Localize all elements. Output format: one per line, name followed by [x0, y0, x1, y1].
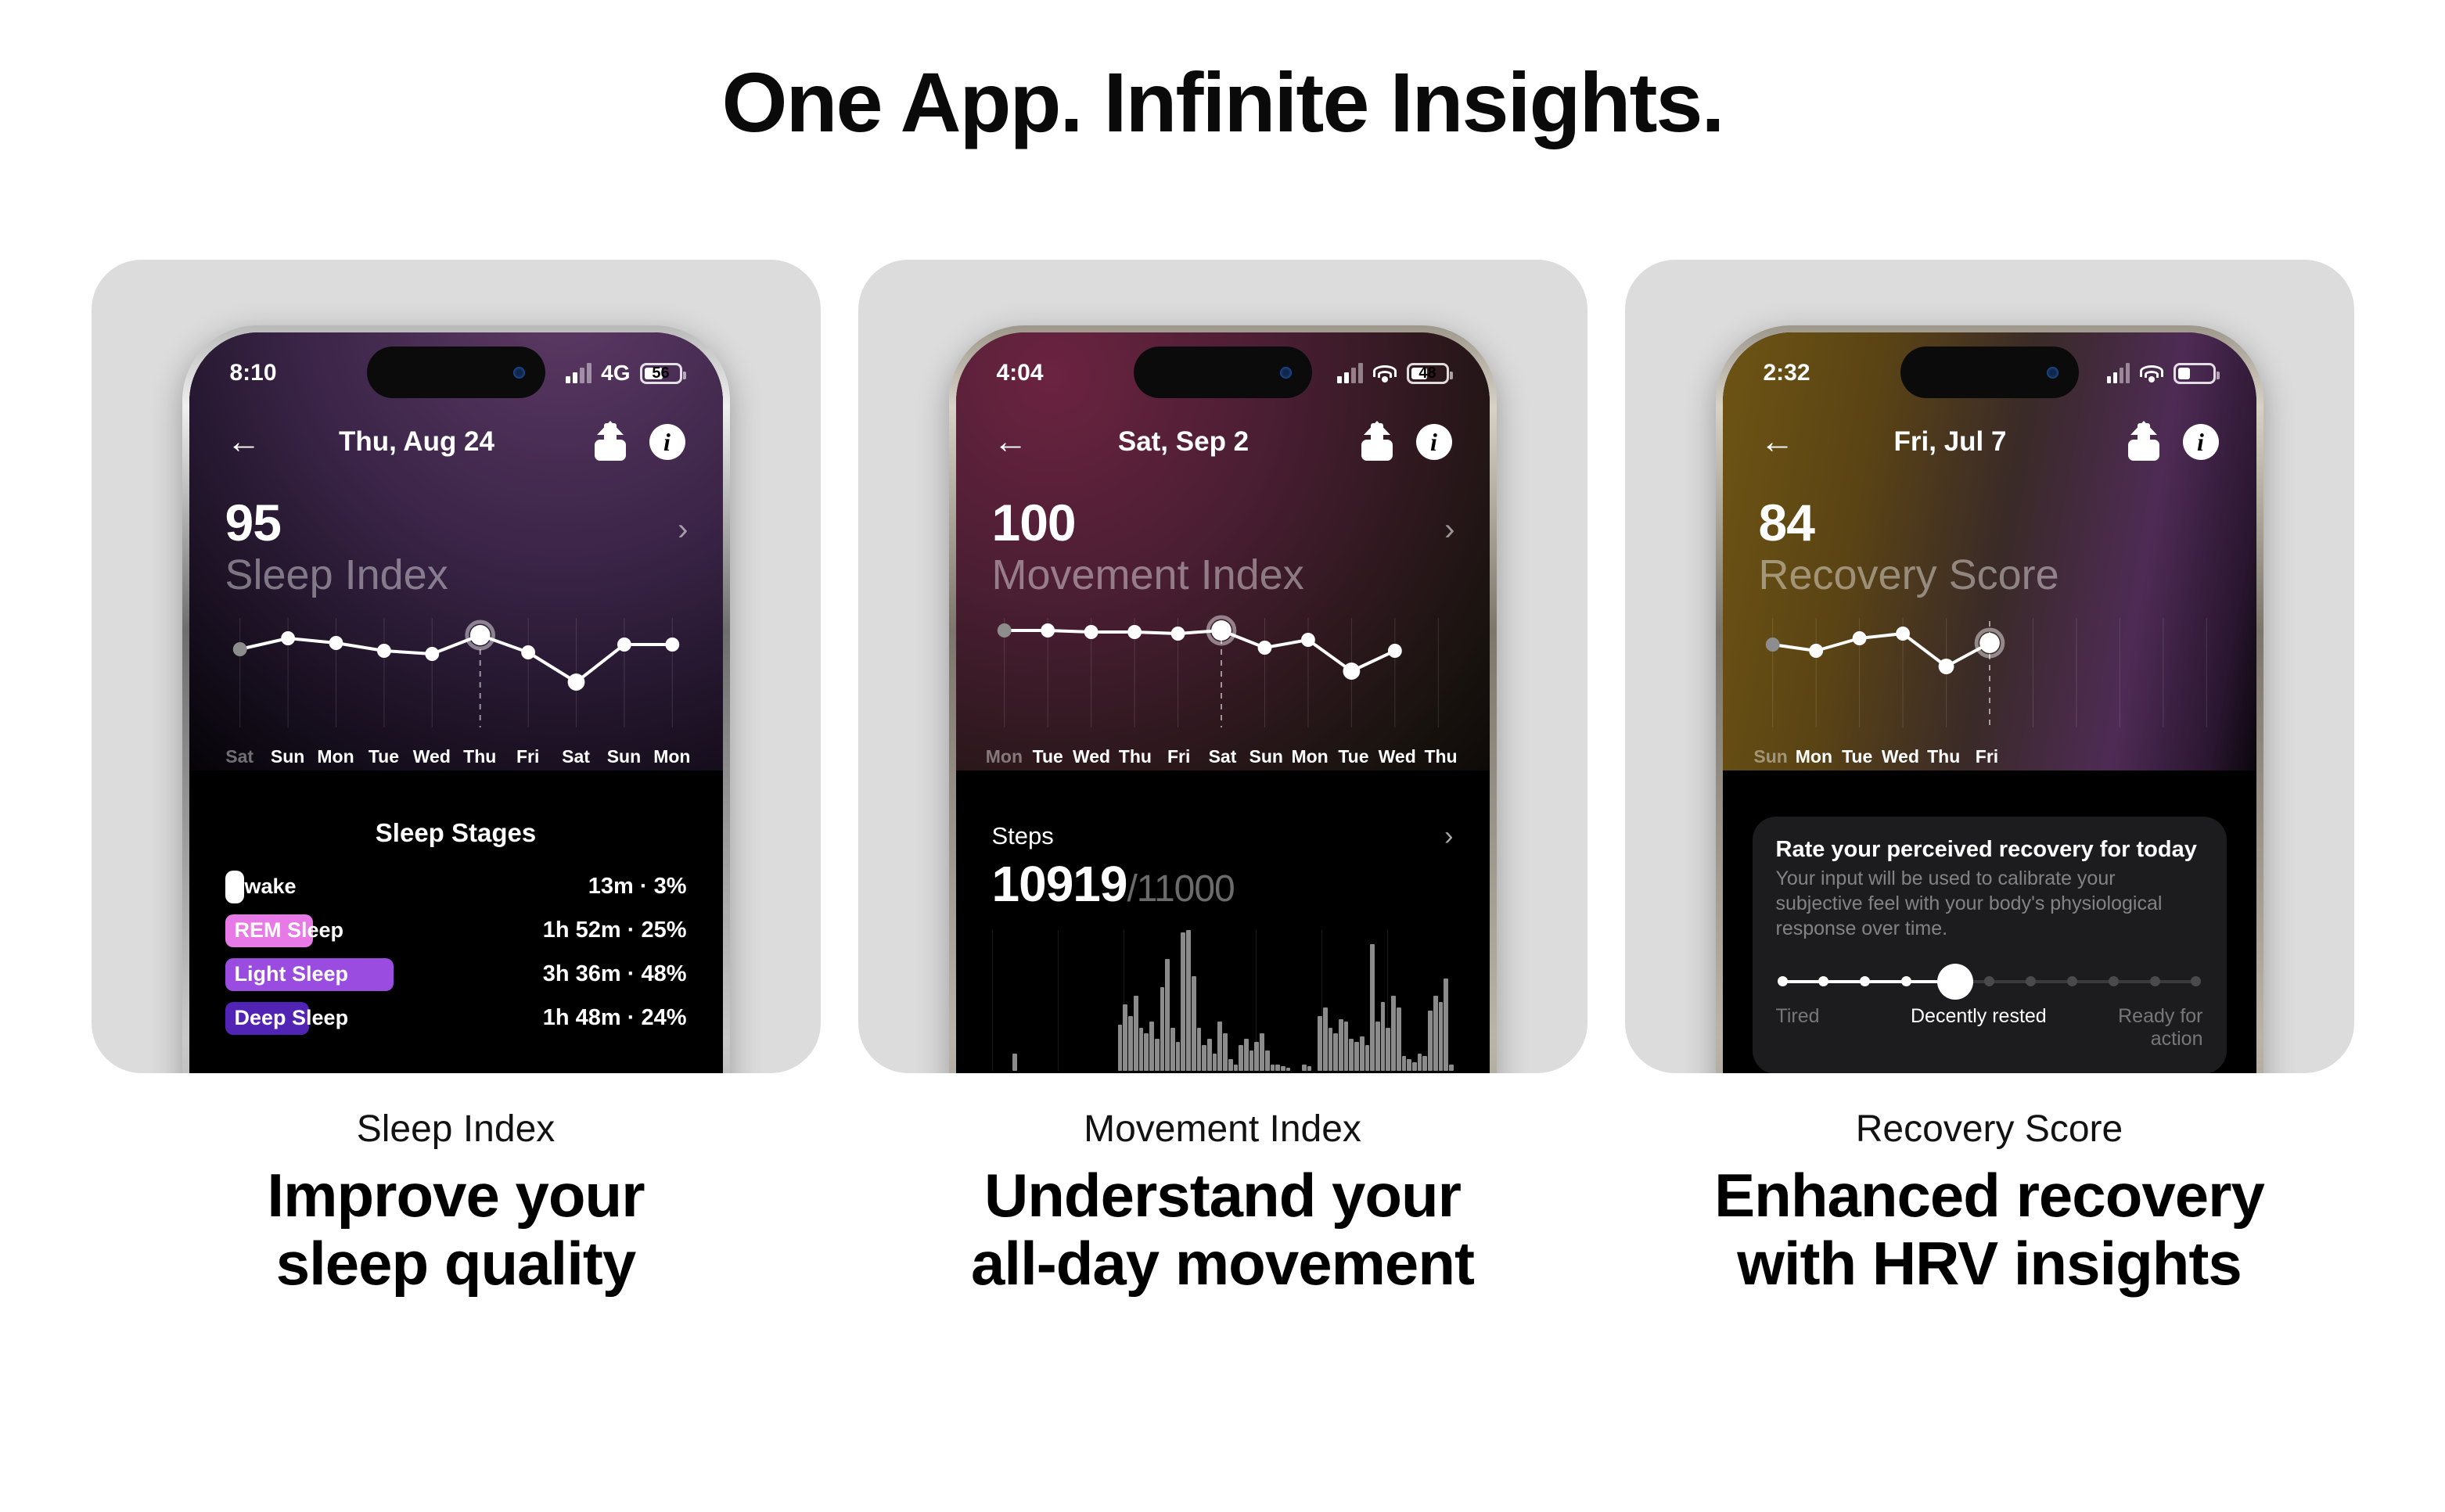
steps-bar	[1271, 1065, 1275, 1070]
trend-x-labels: Mon Tue Wed Thu Fri Sat Sun Mon Tue We	[983, 746, 1463, 767]
slider-legend-mid: Decently rested	[1882, 1005, 2075, 1050]
slider-legend-left: Tired	[1776, 1005, 1883, 1050]
trend-x-label: Mon	[311, 746, 359, 767]
recovery-score-trend-chart: Sun Mon Tue Wed Thu Fri	[1749, 610, 2230, 790]
trend-x-label: Tue	[360, 746, 408, 767]
stage-name: Awake	[230, 875, 297, 899]
front-camera-icon	[513, 367, 525, 379]
dynamic-island	[367, 347, 545, 398]
trend-x-label: Mon	[1288, 746, 1332, 767]
steps-bar	[1360, 1036, 1365, 1071]
steps-bar	[1449, 1065, 1454, 1070]
status-time: 2:32	[1764, 349, 1881, 386]
info-icon[interactable]: i	[1416, 424, 1452, 460]
steps-bar	[1344, 1022, 1349, 1070]
feature-column-recovery: 2:32	[1625, 260, 2354, 1298]
rating-subtitle: Your input will be used to calibrate you…	[1776, 866, 2203, 941]
steps-bar	[1223, 1033, 1228, 1071]
status-bar: 4:04 48	[956, 332, 1490, 403]
steps-bar	[1249, 1050, 1254, 1071]
steps-bar	[1254, 1042, 1259, 1071]
steps-bar	[1318, 1016, 1322, 1071]
battery-percent: 56	[642, 365, 680, 382]
trend-x-labels: Sun Mon Tue Wed Thu Fri	[1749, 746, 2009, 767]
phone-screen-sleep: 8:10 4G	[189, 332, 723, 1073]
steps-bar	[1375, 1022, 1380, 1070]
wifi-icon	[2139, 364, 2164, 382]
steps-bar	[1144, 1033, 1149, 1071]
score-block[interactable]: 84 Recovery Score	[1723, 470, 2256, 601]
steps-bar	[1286, 1068, 1291, 1071]
steps-bar	[1275, 1065, 1280, 1070]
stage-value: 3h 36m · 48%	[543, 961, 687, 987]
steps-bar	[1234, 1065, 1239, 1070]
share-icon[interactable]	[2127, 423, 2161, 461]
caption-line-1: Understand your	[984, 1161, 1461, 1230]
trend-x-label: Sun	[1749, 746, 1792, 767]
steps-bar	[1213, 1054, 1217, 1071]
caption-small-sleep: Sleep Index	[357, 1108, 556, 1151]
trend-x-label: Mon	[648, 746, 696, 767]
front-camera-icon	[1280, 367, 1292, 379]
steps-bar	[1244, 1039, 1249, 1070]
score-value: 84	[1759, 497, 2220, 548]
steps-bar	[1170, 1028, 1175, 1071]
steps-bar	[1433, 996, 1438, 1071]
caption-big-movement: Understand your all-day movement	[971, 1162, 1474, 1298]
steps-bar	[1381, 1002, 1386, 1071]
stage-name: REM Sleep	[225, 914, 313, 947]
steps-bar	[1323, 1007, 1328, 1071]
steps-bar	[1370, 944, 1375, 1071]
trend-x-label: Thu	[456, 746, 504, 767]
date-title: Thu, Aug 24	[282, 426, 552, 458]
battery-icon: 48	[1407, 363, 1449, 384]
steps-bar	[1365, 1045, 1370, 1071]
steps-bar	[1207, 1039, 1212, 1070]
sleep-stages-title: Sleep Stages	[189, 818, 723, 848]
steps-bar	[1354, 1042, 1359, 1071]
steps-bar	[1444, 979, 1448, 1071]
back-arrow-icon[interactable]: ←	[1760, 425, 1815, 459]
sleep-stages-list: Awake 13m · 3% REM Sleep 1h 52m · 25% Li…	[189, 848, 723, 1040]
info-icon[interactable]: i	[649, 424, 685, 460]
trend-x-label: Thu	[1922, 746, 1965, 767]
steps-bar	[1412, 1062, 1417, 1071]
steps-bar	[1428, 1011, 1433, 1071]
steps-bar	[1202, 1045, 1206, 1071]
steps-bar	[1260, 1033, 1264, 1071]
date-title: Fri, Jul 7	[1815, 426, 2086, 458]
cellular-signal-icon	[1337, 363, 1363, 383]
steps-bar	[1149, 1022, 1154, 1070]
time-in-bed-block: Time In Bed 7h 29m i	[189, 1040, 723, 1073]
trend-x-labels: Sat Sun Mon Tue Wed Thu Fri Sat Sun Mo	[216, 746, 696, 767]
stage-row: REM Sleep 1h 52m · 25%	[225, 909, 687, 953]
steps-bar	[1139, 1028, 1144, 1071]
nav-bar: ← Sat, Sep 2 i	[956, 403, 1490, 470]
steps-bar	[1339, 1019, 1343, 1071]
battery-icon	[2174, 363, 2216, 384]
caption-line-1: Enhanced recovery	[1714, 1161, 2264, 1230]
steps-bar	[1333, 1033, 1338, 1071]
cellular-signal-icon	[2107, 363, 2130, 383]
nav-bar: ← Thu, Aug 24 i	[189, 403, 723, 470]
steps-bar	[1165, 959, 1170, 1071]
steps-bars	[992, 930, 1454, 1071]
back-arrow-icon[interactable]: ←	[994, 425, 1048, 459]
chevron-right-icon[interactable]: ›	[1444, 512, 1454, 548]
stage-name: Light Sleep	[225, 958, 394, 991]
caption-big-sleep: Improve your sleep quality	[267, 1162, 644, 1298]
caption-line-1: Improve your	[267, 1161, 644, 1230]
steps-bar	[1155, 1039, 1160, 1070]
steps-value-row: 10919/11000	[956, 855, 1490, 913]
trend-x-label: Wed	[1375, 746, 1419, 767]
trend-svg	[216, 610, 696, 743]
dynamic-island	[1900, 347, 2079, 398]
slider-handle[interactable]	[1937, 964, 1973, 1000]
steps-bar	[1160, 987, 1165, 1071]
date-title: Sat, Sep 2	[1048, 426, 1319, 458]
steps-count: 10919	[992, 856, 1127, 912]
steps-bar	[1407, 1059, 1411, 1071]
feature-column-movement: 4:04 48	[858, 260, 1587, 1298]
steps-bar	[1134, 996, 1138, 1071]
trend-x-label: Wed	[1879, 746, 1922, 767]
steps-bar	[1418, 1054, 1422, 1071]
trend-x-label: Wed	[408, 746, 455, 767]
steps-bar	[1307, 1066, 1312, 1071]
rating-title: Rate your perceived recovery for today	[1776, 837, 2203, 863]
steps-bar	[1265, 1050, 1270, 1071]
steps-bar	[1281, 1066, 1285, 1071]
slider-legend-right: Ready for action	[2075, 1005, 2203, 1050]
trend-x-label: Tue	[1332, 746, 1375, 767]
steps-bar	[1228, 1059, 1233, 1071]
trend-x-label: Sat	[1201, 746, 1245, 767]
status-bar: 8:10 4G	[189, 332, 723, 403]
trend-x-label: Tue	[1836, 746, 1879, 767]
steps-bar	[1422, 1056, 1427, 1070]
battery-icon: 56	[640, 363, 682, 384]
caption-small-movement: Movement Index	[1084, 1108, 1361, 1151]
steps-label: Steps	[992, 822, 1054, 850]
score-label: Recovery Score	[1759, 550, 2220, 601]
phone-frame-movement: 4:04 48	[949, 325, 1497, 1073]
chevron-right-icon[interactable]: ›	[678, 512, 688, 548]
trend-svg	[1749, 610, 2230, 743]
steps-bar-chart	[992, 930, 1454, 1071]
steps-bar	[1329, 1028, 1333, 1071]
score-value: 95	[225, 497, 687, 548]
trend-x-label: Fri	[1157, 746, 1201, 767]
back-arrow-icon[interactable]: ←	[227, 425, 282, 459]
steps-bar	[1197, 1028, 1202, 1071]
phone-screen-movement: 4:04 48	[956, 332, 1490, 1073]
caption-line-2: all-day movement	[971, 1229, 1474, 1298]
steps-bar	[1302, 1065, 1307, 1070]
front-camera-icon	[2047, 367, 2058, 379]
steps-bar	[1123, 1004, 1127, 1070]
slider-legend: Tired Decently rested Ready for action	[1776, 1005, 2203, 1050]
status-time: 4:04	[997, 349, 1114, 386]
page-title: One App. Infinite Insights.	[0, 0, 2445, 149]
chevron-right-icon[interactable]: ›	[1444, 821, 1453, 852]
caption-small-recovery: Recovery Score	[1856, 1108, 2123, 1151]
cellular-signal-icon	[566, 363, 591, 383]
steps-bar	[1439, 1002, 1444, 1071]
trend-x-label: Mon	[1792, 746, 1836, 767]
steps-bar	[1349, 1039, 1354, 1070]
trend-x-label: Fri	[1965, 746, 2008, 767]
trend-x-label: Sun	[600, 746, 648, 767]
slider-stops	[1776, 961, 2203, 1002]
steps-bar	[1118, 1025, 1123, 1071]
trend-x-label: Mon	[983, 746, 1027, 767]
movement-index-trend-chart: Mon Tue Wed Thu Fri Sat Sun Mon Tue We	[983, 610, 1463, 790]
caption-line-2: sleep quality	[276, 1229, 636, 1298]
steps-bar	[1176, 1042, 1181, 1071]
feature-columns: 8:10 4G	[0, 260, 2445, 1298]
stage-name: Deep Sleep	[225, 1002, 309, 1035]
status-bar: 2:32	[1723, 332, 2256, 403]
stage-value: 1h 48m · 24%	[543, 1005, 687, 1031]
stage-row: Awake 13m · 3%	[225, 865, 687, 909]
steps-bar	[1192, 976, 1196, 1071]
dynamic-island	[1134, 347, 1312, 398]
caption-line-2: with HRV insights	[1737, 1229, 2242, 1298]
recovery-slider[interactable]	[1776, 961, 2203, 1002]
steps-bar	[1181, 932, 1185, 1070]
caption-big-recovery: Enhanced recovery with HRV insights	[1714, 1162, 2264, 1298]
score-label: Movement Index	[992, 550, 1454, 601]
trend-x-label: Thu	[1113, 746, 1157, 767]
steps-row-header[interactable]: Steps ›	[956, 821, 1490, 852]
steps-bar	[1402, 1056, 1407, 1070]
phone-frame-sleep: 8:10 4G	[182, 325, 730, 1073]
score-value: 100	[992, 497, 1454, 548]
score-label: Sleep Index	[225, 550, 687, 601]
trend-x-label: Sun	[1244, 746, 1288, 767]
trend-x-label: Wed	[1070, 746, 1113, 767]
sleep-index-trend-chart: Sat Sun Mon Tue Wed Thu Fri Sat Sun Mo	[216, 610, 696, 790]
info-icon[interactable]: i	[2183, 424, 2219, 460]
stage-row: Deep Sleep 1h 48m · 24%	[225, 997, 687, 1040]
phone-frame-recovery: 2:32	[1716, 325, 2263, 1073]
trend-x-label: Sun	[264, 746, 311, 767]
stage-value: 1h 52m · 25%	[543, 918, 687, 943]
score-block[interactable]: 100 Movement Index ›	[956, 470, 1490, 601]
device-card-recovery: 2:32	[1625, 260, 2354, 1073]
steps-goal: /11000	[1127, 868, 1234, 910]
share-icon[interactable]	[1360, 423, 1394, 461]
steps-bar	[1239, 1045, 1243, 1071]
recovery-rating-card: Rate your perceived recovery for today Y…	[1753, 817, 2227, 1073]
steps-bar	[1217, 1022, 1222, 1070]
trend-x-label: Sat	[552, 746, 599, 767]
stage-value: 13m · 3%	[588, 874, 687, 900]
steps-bar	[1128, 1016, 1133, 1071]
trend-x-label: Thu	[1419, 746, 1463, 767]
trend-x-label: Tue	[1026, 746, 1070, 767]
device-card-sleep: 8:10 4G	[92, 260, 821, 1073]
network-type-label: 4G	[601, 361, 630, 386]
feature-column-sleep: 8:10 4G	[92, 260, 821, 1298]
share-icon[interactable]	[593, 423, 627, 461]
steps-bar	[1012, 1054, 1017, 1071]
score-block[interactable]: 95 Sleep Index ›	[189, 470, 723, 601]
nav-bar: ← Fri, Jul 7 i	[1723, 403, 2256, 470]
wifi-icon	[1372, 364, 1397, 382]
steps-bar	[1391, 996, 1396, 1071]
stage-row: Light Sleep 3h 36m · 48%	[225, 953, 687, 997]
trend-x-label: Sat	[216, 746, 264, 767]
status-time: 8:10	[230, 349, 347, 386]
device-card-movement: 4:04 48	[858, 260, 1587, 1073]
battery-percent: 48	[1409, 365, 1447, 382]
steps-bar	[1186, 930, 1191, 1071]
trend-svg	[983, 610, 1463, 743]
steps-bar	[1397, 1007, 1401, 1071]
steps-bar	[1386, 1028, 1390, 1071]
trend-x-label: Fri	[504, 746, 552, 767]
phone-screen-recovery: 2:32	[1723, 332, 2256, 1073]
